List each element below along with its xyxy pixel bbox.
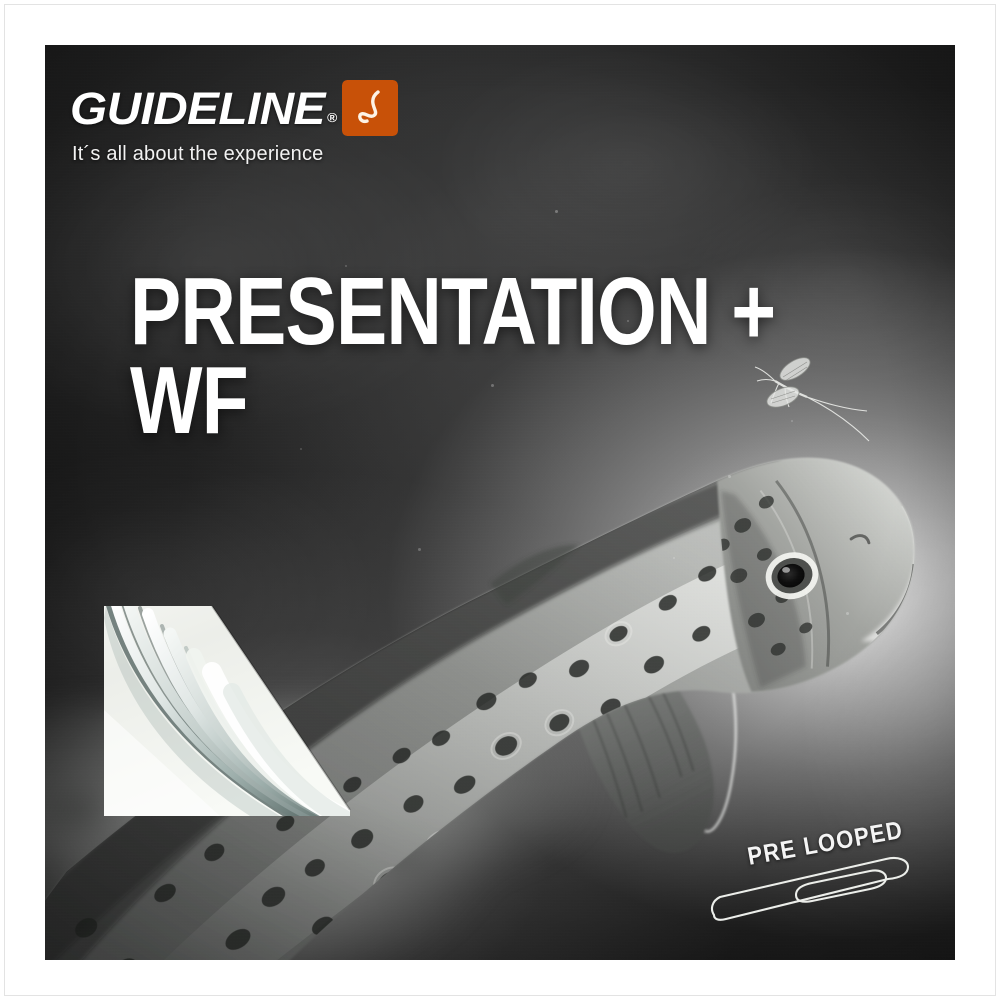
- guideline-squiggle-mark-icon: [342, 80, 398, 136]
- film-grain-overlay: [45, 45, 955, 960]
- product-photo: GUIDELINE® It´s all about the experience…: [45, 45, 955, 960]
- fly-line-coil-panel: [100, 560, 355, 820]
- brand-row: GUIDELINE®: [70, 80, 470, 136]
- wordmark-text: GUIDELINE: [70, 83, 325, 134]
- poster-root: GUIDELINE® It´s all about the experience…: [0, 0, 1000, 1000]
- guideline-wordmark: GUIDELINE®: [70, 86, 337, 131]
- brand-lockup: GUIDELINE® It´s all about the experience: [70, 80, 470, 166]
- registered-trademark-symbol: ®: [327, 110, 337, 125]
- brand-tagline: It´s all about the experience: [72, 143, 470, 166]
- fly-line-coil-graphic: [100, 560, 355, 820]
